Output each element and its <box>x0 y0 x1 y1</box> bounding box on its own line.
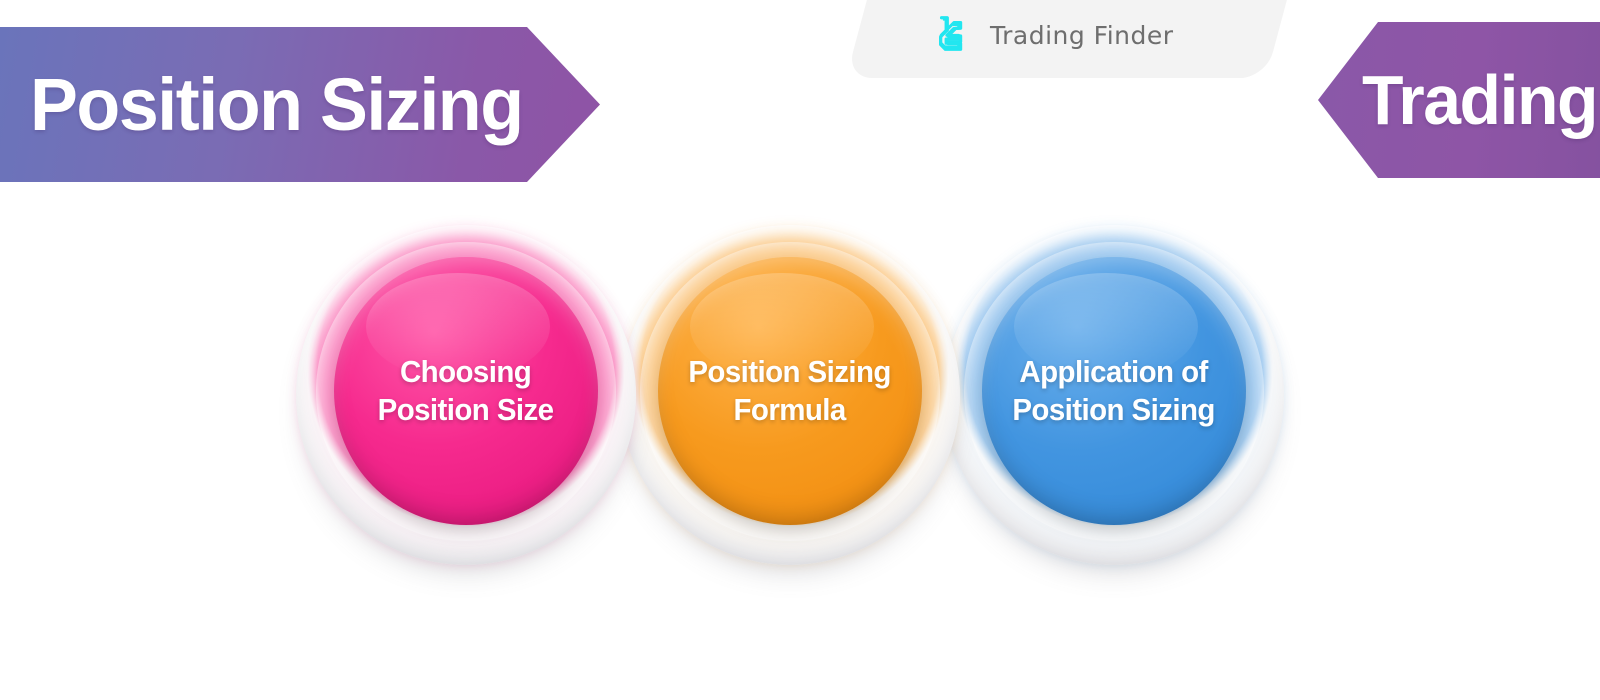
category-badge: Trading <box>1318 22 1600 178</box>
concept-circle-group: Choosing Position Size Position Sizing F… <box>296 225 1284 565</box>
brand-name: Trading Finder <box>990 21 1174 50</box>
brand-logo[interactable]: Trading Finder <box>930 12 1174 58</box>
page-title: Position Sizing <box>30 62 523 147</box>
concept-circle[interactable]: Application of Position Sizing <box>944 225 1284 565</box>
page-title-badge: Position Sizing <box>0 27 600 182</box>
concept-circle-label: Application of Position Sizing <box>1003 353 1225 429</box>
infographic-canvas: Trading Finder Position Sizing Trading C… <box>0 0 1600 700</box>
concept-circle[interactable]: Choosing Position Size <box>296 225 636 565</box>
circle-disc-3: Application of Position Sizing <box>982 257 1246 525</box>
concept-circle-label: Choosing Position Size <box>369 353 564 429</box>
concept-circle-label: Position Sizing Formula <box>679 353 901 429</box>
concept-circle[interactable]: Position Sizing Formula <box>620 225 960 565</box>
tradingfinder-logo-icon <box>930 12 976 58</box>
circle-disc-2: Position Sizing Formula <box>658 257 922 525</box>
circle-disc-1: Choosing Position Size <box>334 257 598 525</box>
category-label: Trading <box>1362 60 1597 140</box>
